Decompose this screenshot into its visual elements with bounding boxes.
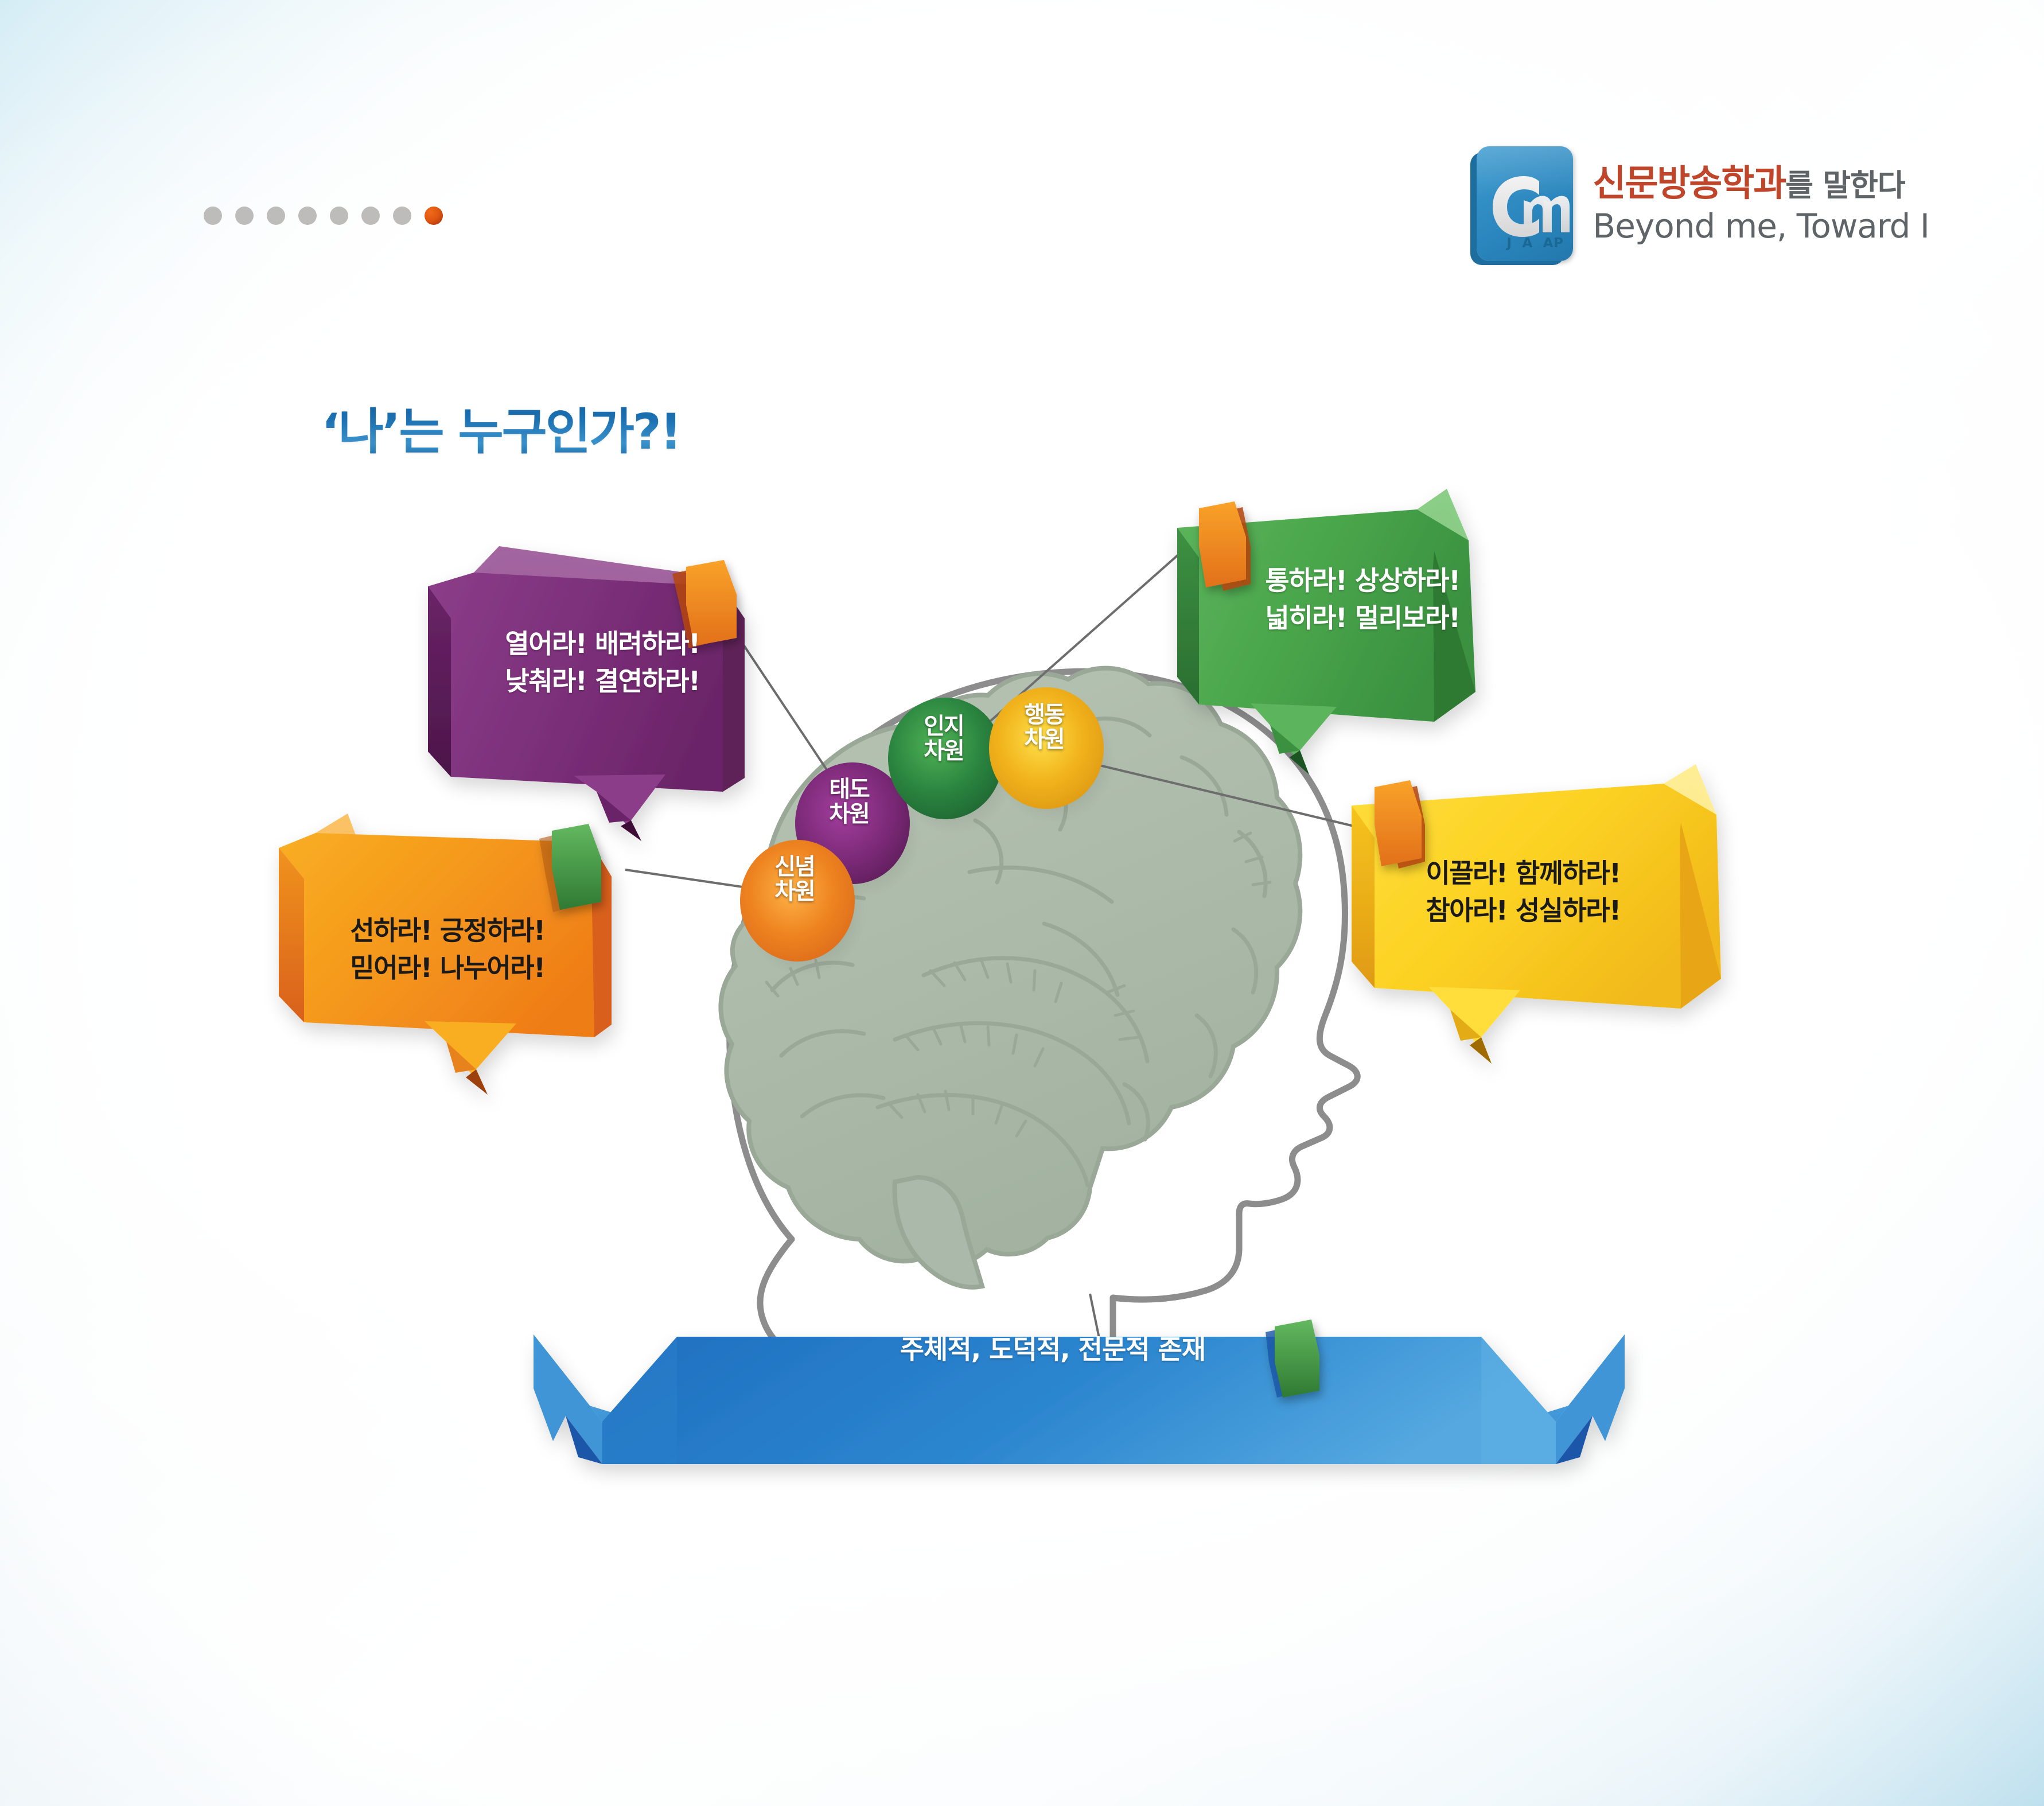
node-circle-behavior [989,687,1104,809]
node-circle-belief [740,840,855,962]
bottom-banner[interactable] [534,1334,1625,1464]
bubble-tab-yellow [1375,780,1425,869]
bubble-tab-green [1199,501,1251,591]
infographic-stage [0,0,2044,1806]
node-circle-cognition [888,698,1003,819]
